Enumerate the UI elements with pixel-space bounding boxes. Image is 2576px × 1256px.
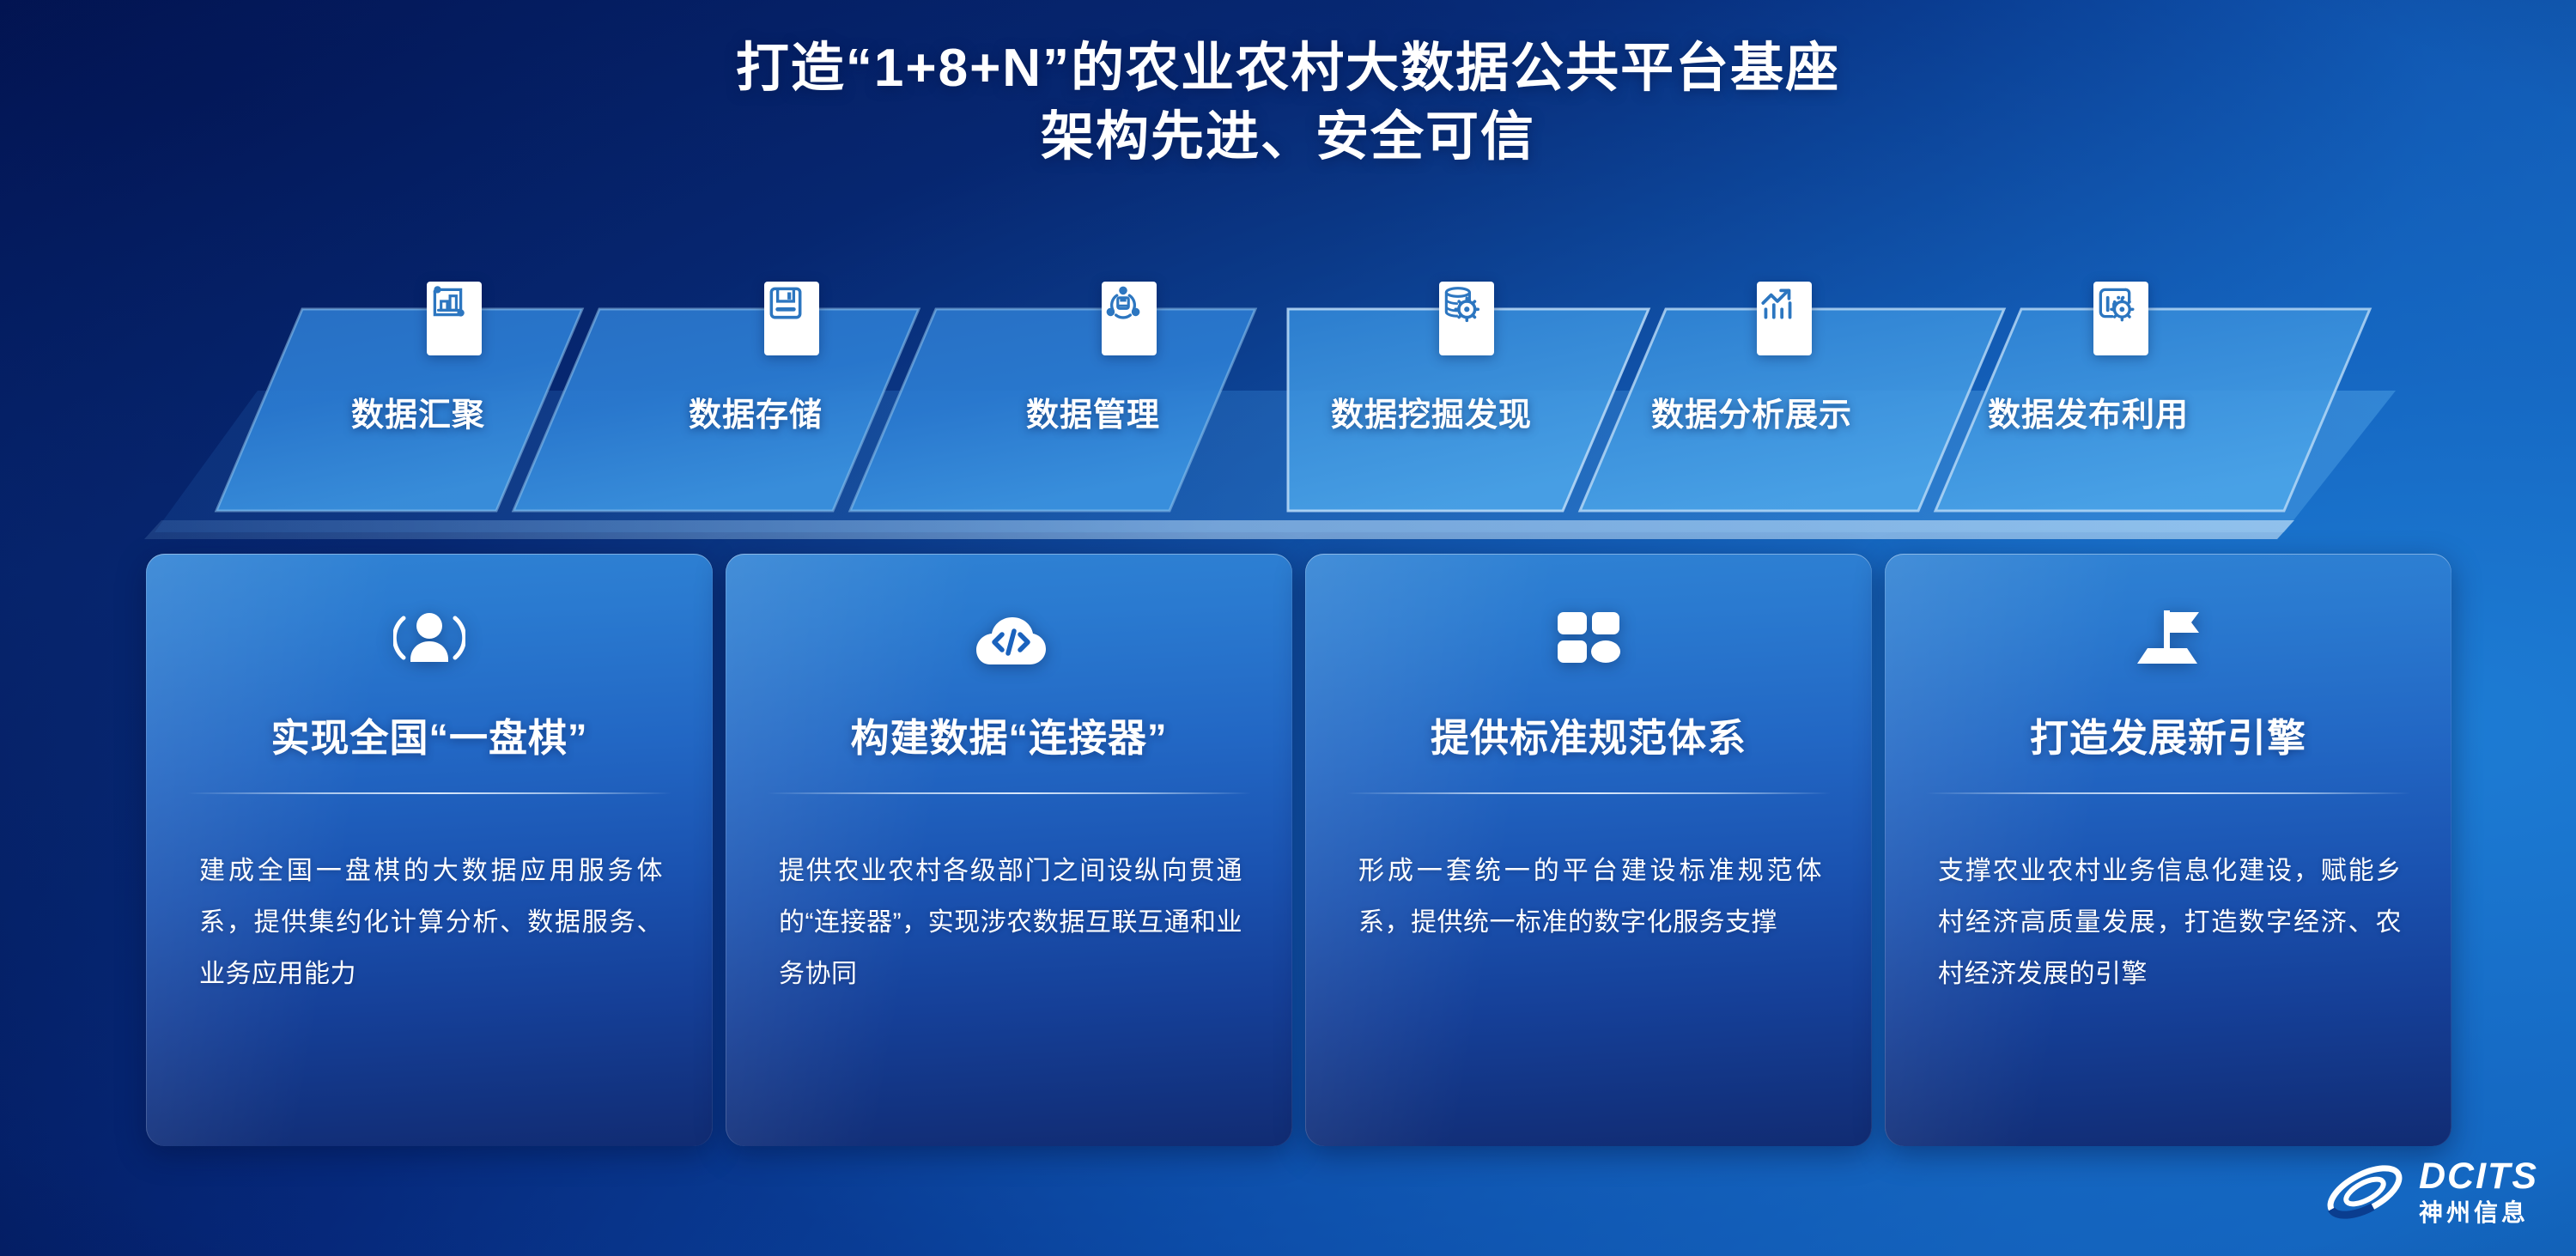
feature-card-1-divider	[187, 792, 671, 794]
feature-card-2-body: 提供农业农村各级部门之间设纵向贯通的“连接器”，实现涉农数据互联互通和业务协同	[779, 846, 1242, 1000]
feature-card-2-divider	[767, 792, 1251, 794]
feature-card-4[interactable]: 打造发展新引擎 支撑农业农村业务信息化建设，赋能乡村经济高质量发展，打造数字经济…	[1885, 554, 2451, 1146]
trend-bars-icon	[1757, 282, 1812, 355]
ribbon-tile-label-3[interactable]: 数据管理	[1026, 388, 1160, 435]
title-line-2: 架构先进、安全可信	[0, 105, 2576, 170]
floppy-disk-icon	[764, 282, 819, 355]
logo-text-en: DCITS	[2419, 1158, 2538, 1195]
title-line-1: 打造“1+8+N”的农业农村大数据公共平台基座	[0, 36, 2576, 101]
grid-blocks-icon	[1305, 601, 1872, 675]
slide-canvas: 打造“1+8+N”的农业农村大数据公共平台基座 架构先进、安全可信	[0, 0, 2576, 1256]
feature-card-3-divider	[1346, 792, 1831, 794]
feature-card-3[interactable]: 提供标准规范体系 形成一套统一的平台建设标准规范体系，提供统一标准的数字化服务支…	[1305, 554, 1872, 1146]
cloud-code-icon	[726, 601, 1292, 675]
ribbon-tile-label-2[interactable]: 数据存储	[689, 388, 823, 435]
ribbon-tile-label-6[interactable]: 数据发布利用	[1988, 388, 2189, 435]
feature-card-4-title: 打造发展新引擎	[1885, 707, 2451, 762]
logo-text-cn: 神州信息	[2419, 1201, 2538, 1225]
ribbon-tile-label-4[interactable]: 数据挖掘发现	[1331, 388, 1532, 435]
database-gear-icon	[1439, 282, 1494, 355]
people-icon	[146, 601, 713, 675]
feature-card-3-title: 提供标准规范体系	[1305, 707, 1872, 762]
page-title: 打造“1+8+N”的农业农村大数据公共平台基座 架构先进、安全可信	[0, 36, 2576, 169]
ribbon-tile-label-5[interactable]: 数据分析展示	[1651, 388, 1852, 435]
feature-card-1-body: 建成全国一盘棋的大数据应用服务体系，提供集约化计算分析、数据服务、业务应用能力	[199, 846, 663, 1000]
feature-card-4-body: 支撑农业农村业务信息化建设，赋能乡村经济高质量发展，打造数字经济、农村经济发展的…	[1938, 846, 2402, 1000]
panel-gear-icon	[2093, 282, 2148, 355]
feature-card-2-title: 构建数据“连接器”	[726, 707, 1292, 762]
dcits-swirl-icon	[2324, 1156, 2405, 1227]
dcits-logo: DCITS 神州信息	[2324, 1156, 2538, 1227]
feature-card-3-body: 形成一套统一的平台建设标准规范体系，提供统一标准的数字化服务支撑	[1358, 846, 1822, 949]
feature-card-1-title: 实现全国“一盘棋”	[146, 707, 713, 762]
ribbon-floor-strip	[144, 520, 2294, 539]
flag-icon	[1885, 601, 2451, 675]
data-lifecycle-ribbon: 数据汇聚 数据存储 数据管理 数据挖掘发现 数据分析展示 数据发布利用	[0, 283, 2576, 558]
network-hub-icon	[1102, 282, 1157, 355]
feature-card-2[interactable]: 构建数据“连接器” 提供农业农村各级部门之间设纵向贯通的“连接器”，实现涉农数据…	[726, 554, 1292, 1146]
feature-card-1[interactable]: 实现全国“一盘棋” 建成全国一盘棋的大数据应用服务体系，提供集约化计算分析、数据…	[146, 554, 713, 1146]
feature-card-4-divider	[1926, 792, 2410, 794]
bar-chart-frame-icon	[427, 282, 482, 355]
ribbon-tile-label-1[interactable]: 数据汇聚	[351, 388, 485, 435]
